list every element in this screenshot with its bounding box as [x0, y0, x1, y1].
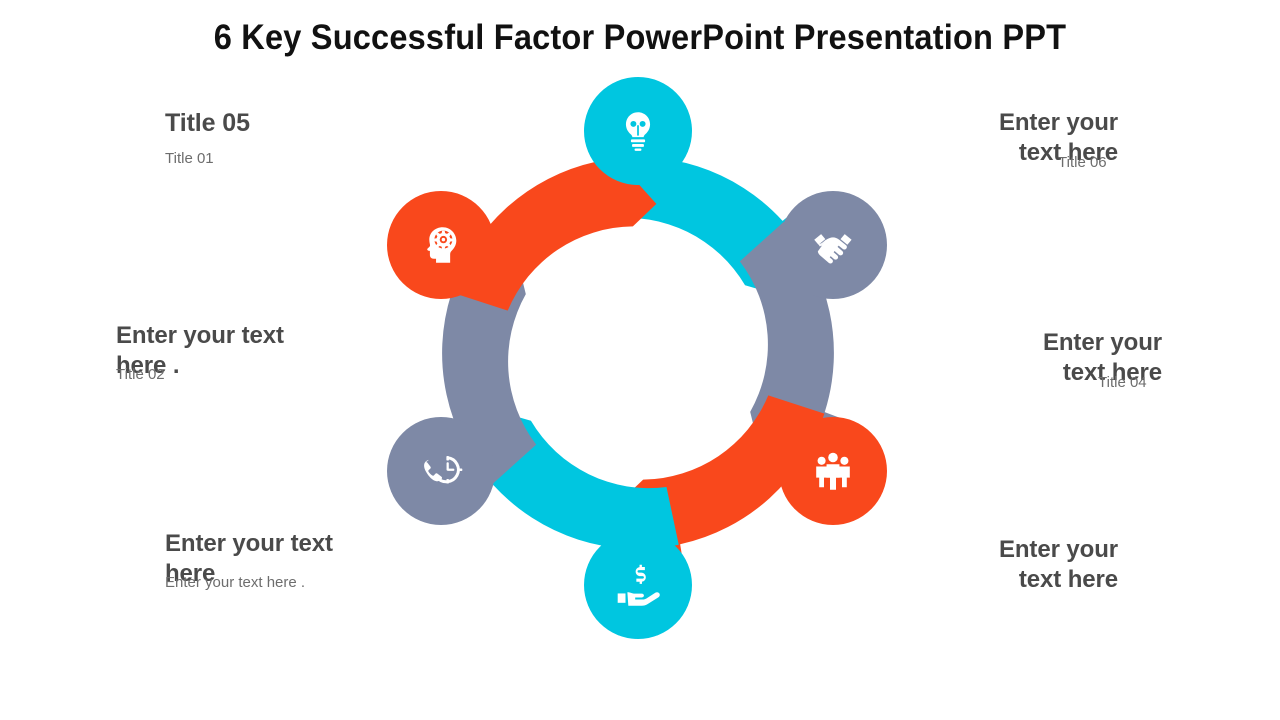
callout-title01-sub: Enter your text here . [165, 573, 305, 592]
callout-title05: Title 05 Title 01 [165, 108, 425, 168]
callout-title02-heading-line1: Enter your text [116, 321, 436, 351]
callout-title05-heading: Title 05 [165, 108, 425, 138]
node-idea[interactable] [584, 77, 692, 185]
handshake-icon [808, 220, 858, 270]
node-team[interactable] [779, 417, 887, 525]
callout-title03: Enter your text here [900, 535, 1118, 595]
callout-title02-sub: Title 02 [116, 365, 165, 384]
callout-title01-heading-line1: Enter your text [165, 529, 485, 559]
callout-title05-sub: Title 01 [165, 149, 425, 168]
callout-title04: Enter your text here Title 04 [900, 328, 1162, 388]
phone-clock-icon [417, 447, 465, 495]
node-partnership[interactable] [779, 191, 887, 299]
callout-title04-sub: Title 04 [1098, 373, 1147, 392]
node-strategy[interactable] [387, 191, 495, 299]
callout-title02: Enter your text here . Title 02 [116, 321, 436, 381]
people-group-icon [809, 447, 857, 495]
head-gear-icon [417, 221, 465, 269]
page-title: 6 Key Successful Factor PowerPoint Prese… [45, 18, 1235, 58]
callout-title06-heading-line1: Enter your [900, 108, 1118, 138]
callout-title03-heading-line2: text here [900, 565, 1118, 595]
lightbulb-icon [615, 108, 661, 154]
callout-title03-heading-line1: Enter your [900, 535, 1118, 565]
callout-title04-heading-line1: Enter your [900, 328, 1162, 358]
node-revenue[interactable] [584, 531, 692, 639]
node-support[interactable] [387, 417, 495, 525]
hand-money-icon [613, 560, 663, 610]
callout-title06: Enter your text here Title 06 [900, 108, 1118, 168]
callout-title06-sub: Title 06 [1058, 153, 1107, 172]
callout-title01: Enter your text here Enter your text her… [165, 529, 485, 589]
